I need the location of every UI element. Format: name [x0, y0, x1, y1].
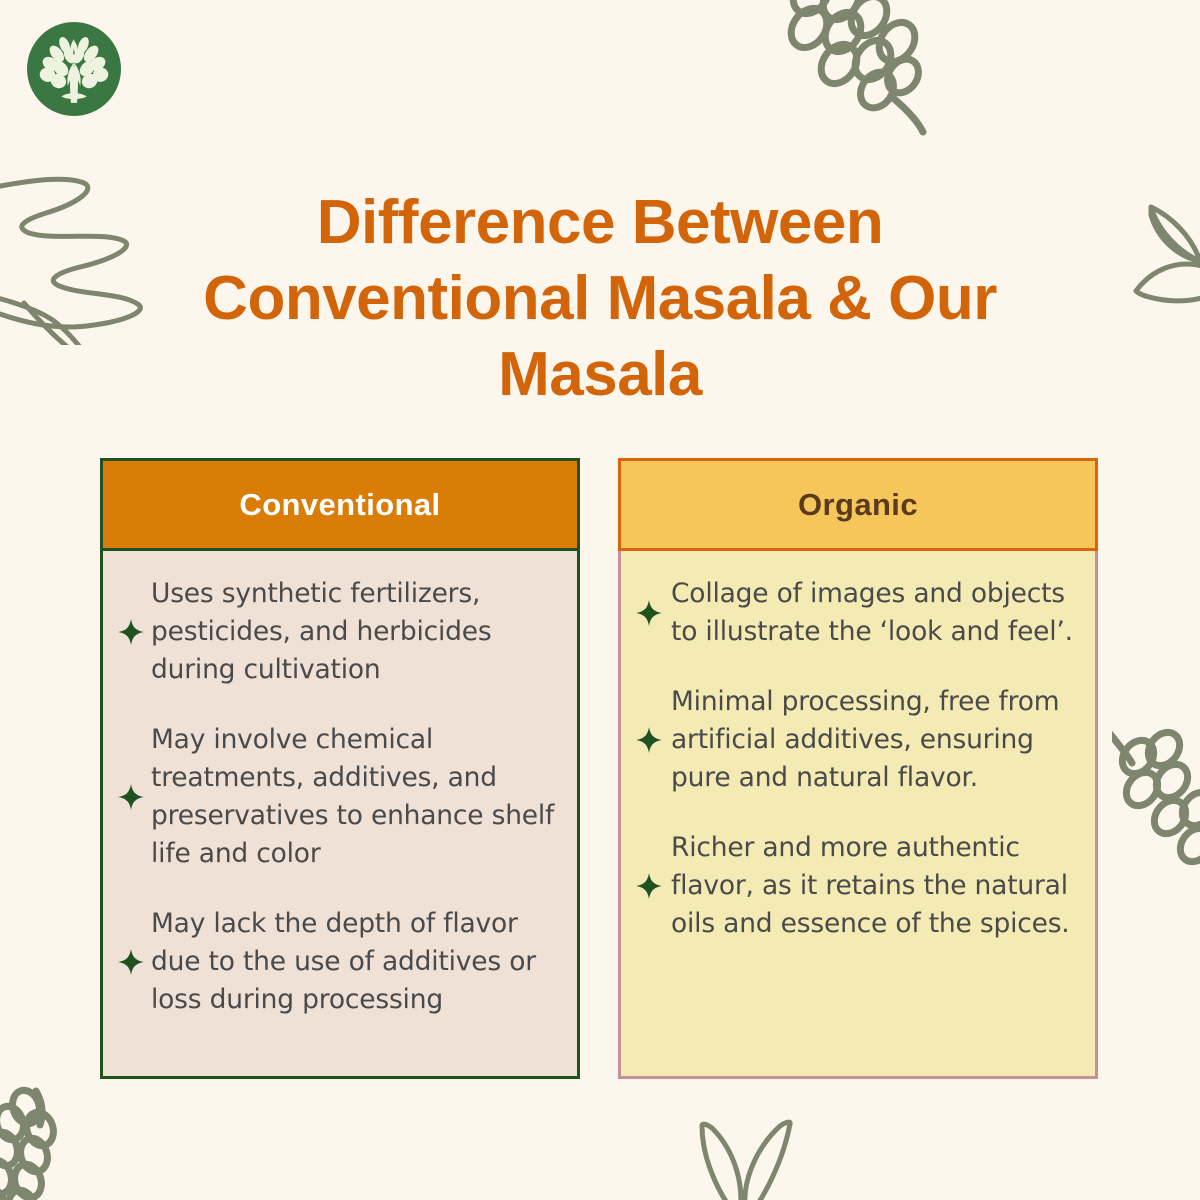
column-heading-organic: Organic	[618, 458, 1098, 551]
column-heading-label: Organic	[798, 487, 918, 523]
list-item-text: May lack the depth of flavor due to the …	[151, 905, 561, 1019]
list-item: Minimal processing, free from artificial…	[635, 683, 1079, 797]
list-item: May lack the depth of flavor due to the …	[117, 905, 561, 1019]
wheat-sprig-doodle-icon	[765, 0, 945, 160]
tree-of-life-icon	[35, 28, 113, 111]
brand-logo	[27, 22, 121, 116]
four-point-star-icon	[117, 948, 145, 976]
list-item: Uses synthetic fertilizers, pesticides, …	[117, 575, 561, 689]
fern-leaf-doodle-icon	[0, 155, 184, 345]
four-point-star-icon	[635, 599, 663, 627]
twin-leaves-doodle-icon	[1118, 165, 1200, 325]
list-item-text: Richer and more authentic flavor, as it …	[669, 829, 1079, 943]
four-point-star-icon	[635, 726, 663, 754]
list-item-text: May involve chemical treatments, additiv…	[151, 721, 561, 873]
list-item-text: Minimal processing, free from artificial…	[669, 683, 1079, 797]
four-point-star-icon	[635, 872, 663, 900]
column-heading-conventional: Conventional	[100, 458, 580, 551]
list-item-text: Collage of images and objects to illustr…	[669, 575, 1079, 651]
column-body-organic: Collage of images and objects to illustr…	[618, 551, 1098, 1079]
four-point-star-icon	[117, 783, 145, 811]
sprout-doodle-icon	[672, 1118, 852, 1200]
column-heading-label: Conventional	[239, 487, 440, 523]
list-item-text: Uses synthetic fertilizers, pesticides, …	[151, 575, 561, 689]
four-point-star-icon	[117, 618, 145, 646]
infographic-canvas: Difference Between Conventional Masala &…	[0, 0, 1200, 1200]
wheat-sprig-doodle-icon	[0, 1085, 106, 1200]
list-item: Collage of images and objects to illustr…	[635, 575, 1079, 651]
list-item: Richer and more authentic flavor, as it …	[635, 829, 1079, 943]
page-title: Difference Between Conventional Masala &…	[170, 185, 1030, 413]
comparison-column-conventional: Conventional Uses synthetic fertilizers,…	[100, 458, 580, 1079]
comparison-table: Conventional Uses synthetic fertilizers,…	[0, 458, 1200, 1088]
comparison-column-organic: Organic Collage of images and objects to…	[618, 458, 1098, 1079]
column-body-conventional: Uses synthetic fertilizers, pesticides, …	[100, 551, 580, 1079]
list-item: May involve chemical treatments, additiv…	[117, 721, 561, 873]
